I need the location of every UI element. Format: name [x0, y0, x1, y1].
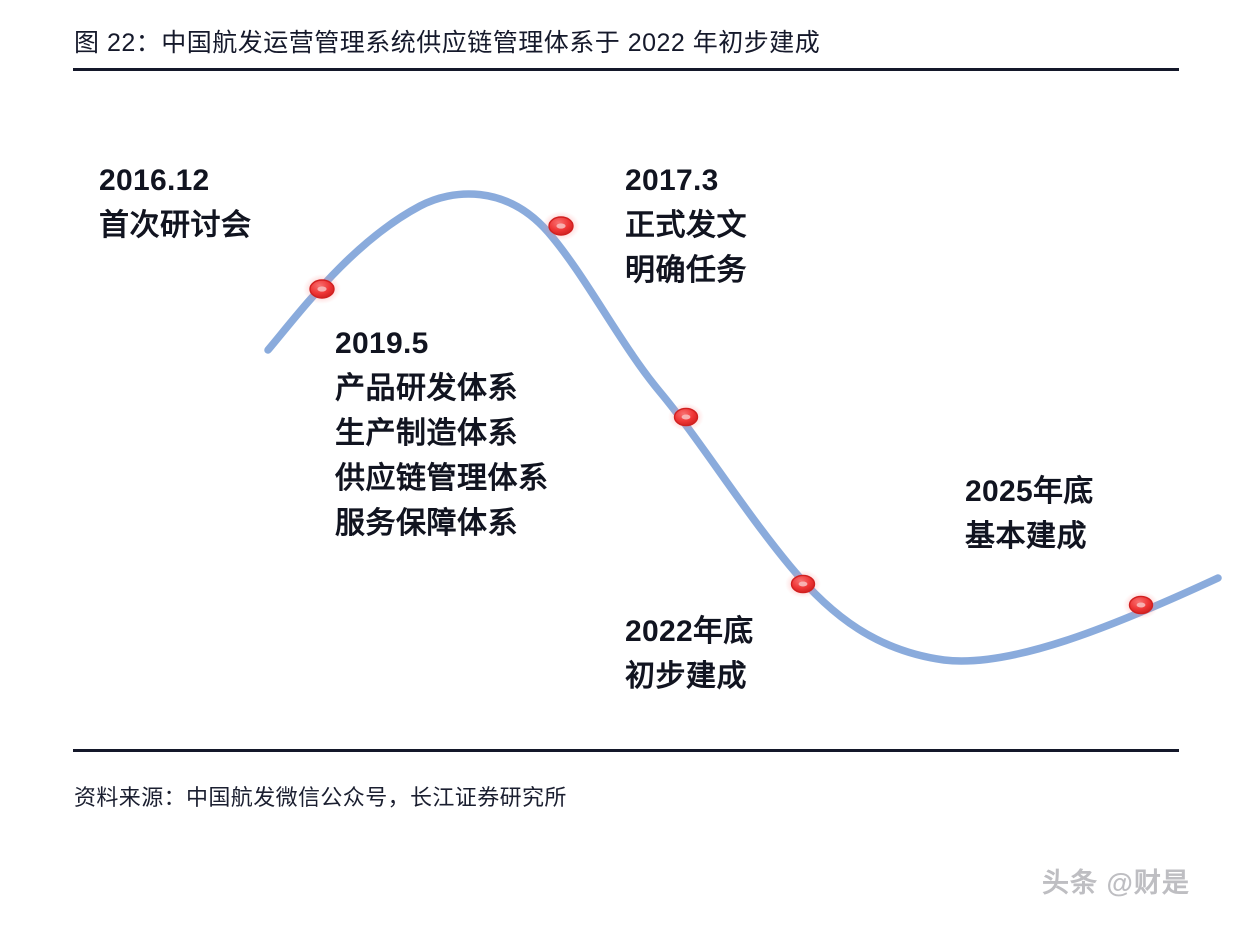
annotation-year: 2022年底 [625, 610, 754, 654]
annotation-2019-05: 2019.5 产品研发体系 生产制造体系 供应链管理体系 服务保障体系 [335, 322, 549, 546]
figure-container: 图 22：中国航发运营管理系统供应链管理体系于 2022 年初步建成 [0, 0, 1252, 928]
annotation-year: 2019.5 [335, 322, 549, 366]
source-divider-bottom [73, 749, 1179, 752]
title-divider-top [73, 68, 1179, 71]
marker-2022-end[interactable] [785, 570, 821, 598]
annotation-year: 2025年底 [965, 470, 1094, 514]
source-note: 资料来源：中国航发微信公众号，长江证券研究所 [74, 783, 567, 813]
figure-title: 图 22：中国航发运营管理系统供应链管理体系于 2022 年初步建成 [74, 27, 820, 59]
annotation-line: 供应链管理体系 [335, 456, 549, 501]
annotation-2022-end: 2022年底 初步建成 [625, 610, 754, 699]
annotation-2025-end: 2025年底 基本建成 [965, 470, 1094, 559]
annotation-line: 产品研发体系 [335, 366, 549, 411]
annotation-year: 2017.3 [625, 159, 747, 203]
marker-2016-12[interactable] [303, 274, 341, 304]
marker-2025-end[interactable] [1123, 591, 1159, 619]
annotation-year: 2016.12 [99, 159, 252, 203]
annotation-line: 生产制造体系 [335, 411, 549, 456]
annotation-line: 基本建成 [965, 514, 1094, 559]
annotation-line: 明确任务 [625, 248, 747, 293]
annotation-line: 服务保障体系 [335, 501, 549, 546]
annotation-line: 正式发文 [625, 203, 747, 248]
watermark-label: 头条 @财是 [1042, 866, 1190, 900]
marker-2019-05[interactable] [668, 403, 704, 431]
marker-2017-03[interactable] [542, 211, 580, 241]
annotation-2016-12: 2016.12 首次研讨会 [99, 159, 252, 248]
annotation-line: 初步建成 [625, 654, 754, 699]
annotation-line: 首次研讨会 [99, 203, 252, 248]
annotation-2017-03: 2017.3 正式发文 明确任务 [625, 159, 747, 293]
